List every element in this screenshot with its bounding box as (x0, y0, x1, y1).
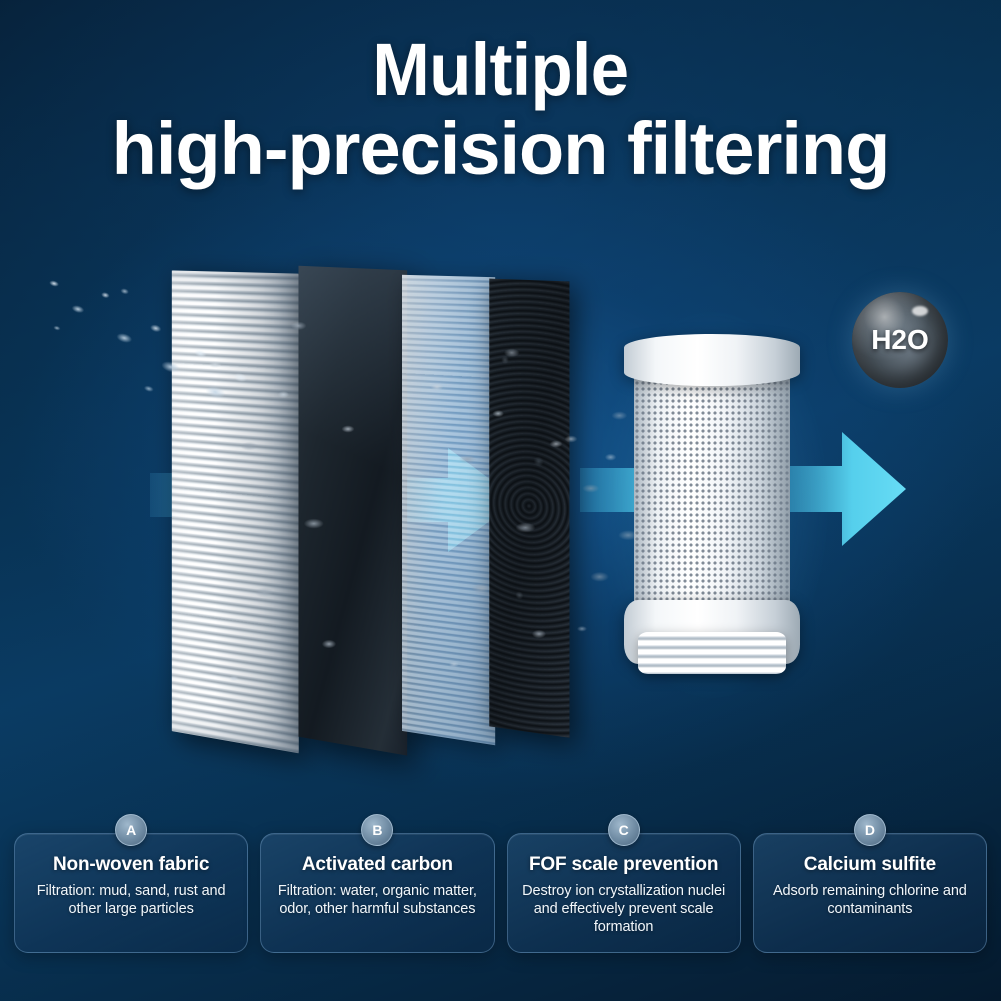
legend-card-b[interactable]: B Activated carbon Filtration: water, or… (260, 833, 494, 953)
card-badge-d: D (854, 814, 886, 846)
card-title-d: Calcium sulfite (762, 854, 978, 876)
card-badge-a: A (115, 814, 147, 846)
legend-card-c[interactable]: C FOF scale prevention Destroy ion cryst… (507, 833, 741, 953)
card-desc-d: Adsorb remaining chlorine and contaminan… (762, 883, 978, 919)
h2o-droplet-icon: H2O (852, 292, 948, 388)
legend-card-row: A Non-woven fabric Filtration: mud, sand… (14, 833, 987, 953)
translucent-membrane-panel (402, 275, 495, 745)
card-desc-b: Filtration: water, organic matter, odor,… (269, 883, 485, 919)
card-title-b: Activated carbon (269, 854, 485, 876)
non-woven-fabric-panel (172, 270, 299, 753)
cartridge-thread (638, 632, 786, 674)
card-badge-b: B (361, 814, 393, 846)
droplet-highlight (912, 306, 928, 316)
title-line-2: high-precision filtering (0, 113, 1001, 186)
card-title-a: Non-woven fabric (23, 854, 239, 876)
legend-card-a[interactable]: A Non-woven fabric Filtration: mud, sand… (14, 833, 248, 953)
h2o-label: H2O (871, 324, 929, 356)
card-desc-c: Destroy ion crystallization nuclei and e… (516, 883, 732, 937)
page-title: Multiple high-precision filtering (0, 34, 1001, 185)
title-line-1: Multiple (35, 34, 966, 107)
legend-card-d[interactable]: D Calcium sulfite Adsorb remaining chlor… (753, 833, 987, 953)
cartridge-top-cap (624, 334, 800, 386)
dark-filter-panel (298, 266, 407, 756)
card-desc-a: Filtration: mud, sand, rust and other la… (23, 883, 239, 919)
activated-carbon-panel (489, 279, 569, 738)
card-title-c: FOF scale prevention (516, 854, 732, 876)
card-badge-c: C (608, 814, 640, 846)
filter-cartridge (624, 334, 800, 674)
infographic-canvas: Multiple high-precision filtering (0, 0, 1001, 1001)
